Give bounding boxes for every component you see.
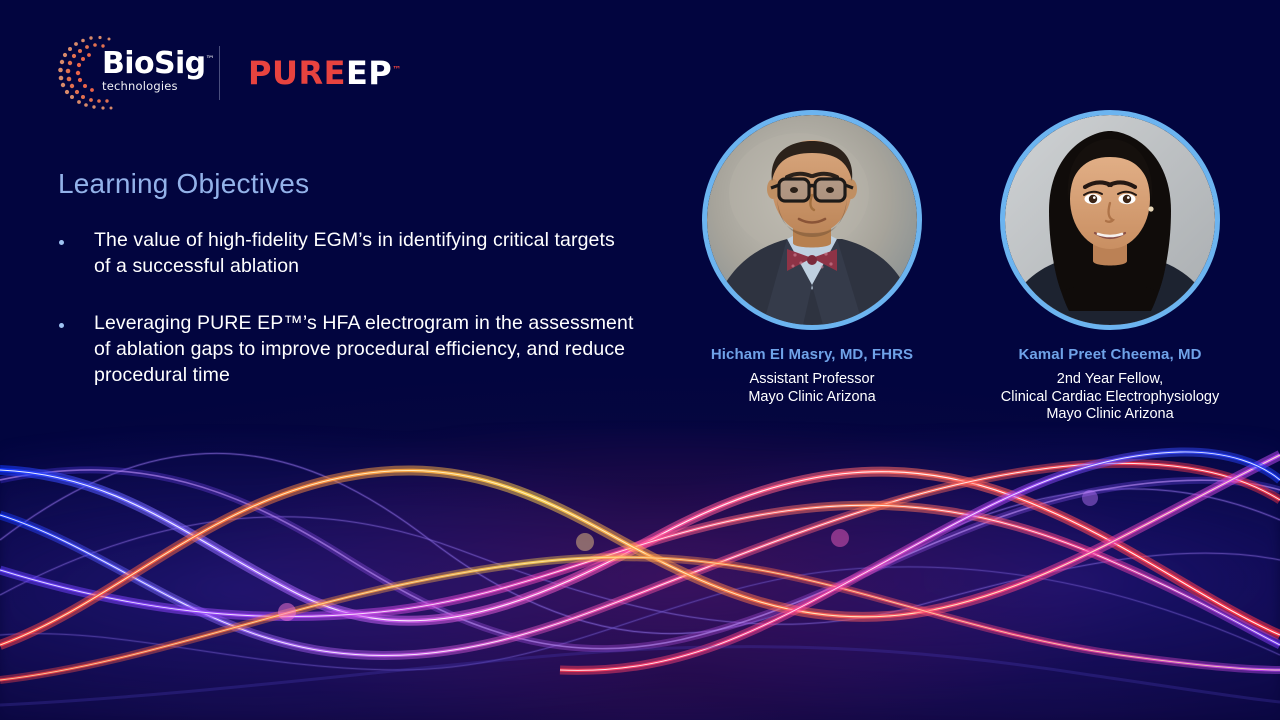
page-title: Learning Objectives	[58, 168, 309, 200]
portrait-hicham-el-masry	[707, 115, 917, 325]
list-item: Leveraging PURE EP™’s HFA electrogram in…	[55, 311, 635, 388]
speaker-role: 2nd Year Fellow, Clinical Cardiac Electr…	[970, 371, 1250, 424]
avatar	[702, 110, 922, 330]
pure-ep-logo: PUREEP™	[248, 54, 402, 92]
speaker-card-kamal-preet-cheema: Kamal Preet Cheema, MD 2nd Year Fellow, …	[970, 110, 1250, 424]
biosig-tagline: technologies	[102, 81, 214, 93]
bullet-dot-icon	[59, 323, 64, 328]
logo-divider	[219, 46, 220, 100]
brand-logo-row: BioSig™ technologies PUREEP™	[55, 33, 402, 113]
speaker-name: Kamal Preet Cheema, MD	[970, 346, 1250, 363]
pure-ep-pure-text: PURE	[248, 54, 346, 92]
list-item: The value of high-fidelity EGM’s in iden…	[55, 228, 635, 279]
biosig-name: BioSig™	[102, 49, 214, 79]
bullet-dot-icon	[59, 240, 64, 245]
portrait-illustration	[1005, 115, 1215, 325]
learning-objectives-list: The value of high-fidelity EGM’s in iden…	[55, 228, 635, 421]
neon-wave-graphic	[0, 420, 1280, 720]
pure-ep-ep-text: EP	[346, 54, 392, 92]
pure-ep-trademark: ™	[392, 65, 402, 75]
biosig-logo: BioSig™ technologies	[55, 33, 195, 113]
list-item-text: Leveraging PURE EP™’s HFA electrogram in…	[94, 311, 635, 388]
biosig-trademark: ™	[206, 55, 214, 65]
list-item-text: The value of high-fidelity EGM’s in iden…	[94, 228, 635, 279]
speaker-name: Hicham El Masry, MD, FHRS	[672, 346, 952, 363]
speaker-card-hicham-el-masry: Hicham El Masry, MD, FHRS Assistant Prof…	[672, 110, 952, 406]
avatar	[1000, 110, 1220, 330]
speaker-role: Assistant Professor Mayo Clinic Arizona	[672, 371, 952, 406]
biosig-wordmark: BioSig™ technologies	[102, 49, 214, 93]
portrait-illustration	[707, 115, 917, 325]
portrait-kamal-preet-cheema	[1005, 115, 1215, 325]
